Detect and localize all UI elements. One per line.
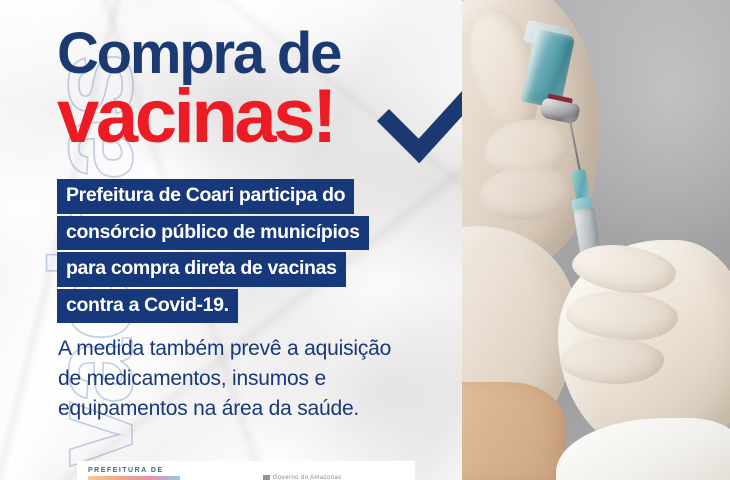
headline-line-2: vacinas!	[57, 79, 334, 155]
highlight-band: consórcio público de municípios	[57, 216, 369, 251]
body-line: de medicamentos, insumos e	[58, 364, 453, 394]
body-line: A medida também prevê a aquisição	[58, 334, 453, 364]
footer-logo-card: PREFEITURA DE Governo do Amazonas	[77, 461, 415, 480]
headline-line-2-wrap: vacinas!	[57, 79, 457, 153]
footer-prefeitura-label: PREFEITURA DE	[88, 467, 164, 474]
vaccination-photo	[462, 0, 730, 480]
highlight-band-group: Prefeitura de Coari participa do consórc…	[57, 179, 457, 325]
vaccine-campaign-poster: vacinas Compra de vacinas! Prefeitura de…	[0, 0, 730, 480]
coari-brand-logo	[88, 476, 180, 480]
body-paragraph: A medida também prevê a aquisição de med…	[58, 334, 453, 423]
highlight-band: para compra direta de vacinas	[57, 252, 346, 287]
patient-arm	[462, 382, 566, 480]
gov-emblem-icon	[263, 475, 270, 480]
highlight-band: Prefeitura de Coari participa do	[57, 179, 354, 214]
body-line: equipamentos na área da saúde.	[58, 394, 453, 424]
highlight-band: contra a Covid-19.	[57, 289, 238, 324]
headline-group: Compra de vacinas!	[57, 26, 457, 153]
footer-government-label: Governo do Amazonas	[273, 475, 342, 480]
